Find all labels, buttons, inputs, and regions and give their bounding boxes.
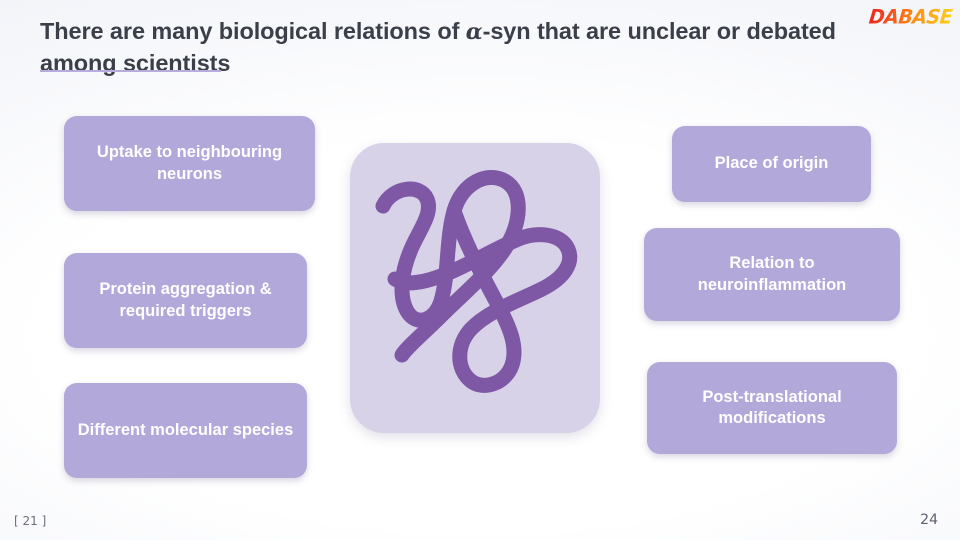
concept-box-place-of-origin[interactable]: Place of origin	[672, 126, 871, 202]
concept-box-label: Uptake to neighbouring neurons	[76, 142, 303, 184]
concept-box-label: Protein aggregation & required triggers	[76, 279, 295, 321]
concept-box-label: Post-translational modifications	[659, 387, 885, 429]
citation-reference: [ 21 ]	[14, 514, 46, 528]
title-underline	[40, 70, 221, 72]
concept-box-different-molecular-species[interactable]: Different molecular species	[64, 383, 307, 478]
alpha-synuclein-illustration-panel	[350, 143, 600, 433]
concept-box-protein-aggregation[interactable]: Protein aggregation & required triggers	[64, 253, 307, 348]
protein-squiggle-icon	[350, 143, 600, 433]
concept-box-label: Different molecular species	[78, 420, 294, 441]
logo-text: DABASE	[867, 5, 953, 28]
concept-box-post-translational-modifications[interactable]: Post-translational modifications	[647, 362, 897, 454]
concept-box-label: Relation to neuroinflammation	[656, 253, 888, 295]
alpha-symbol: α	[466, 19, 483, 45]
slide: DABASE There are many biological relatio…	[0, 0, 960, 540]
concept-box-label: Place of origin	[715, 153, 829, 174]
concept-box-uptake-to-neighbouring-neurons[interactable]: Uptake to neighbouring neurons	[64, 116, 315, 211]
concept-box-relation-to-neuroinflammation[interactable]: Relation to neuroinflammation	[644, 228, 900, 321]
dabase-logo: DABASE	[860, 5, 952, 29]
page-number: 24	[920, 512, 938, 528]
title-text-part1: There are many biological relations of	[40, 18, 466, 44]
